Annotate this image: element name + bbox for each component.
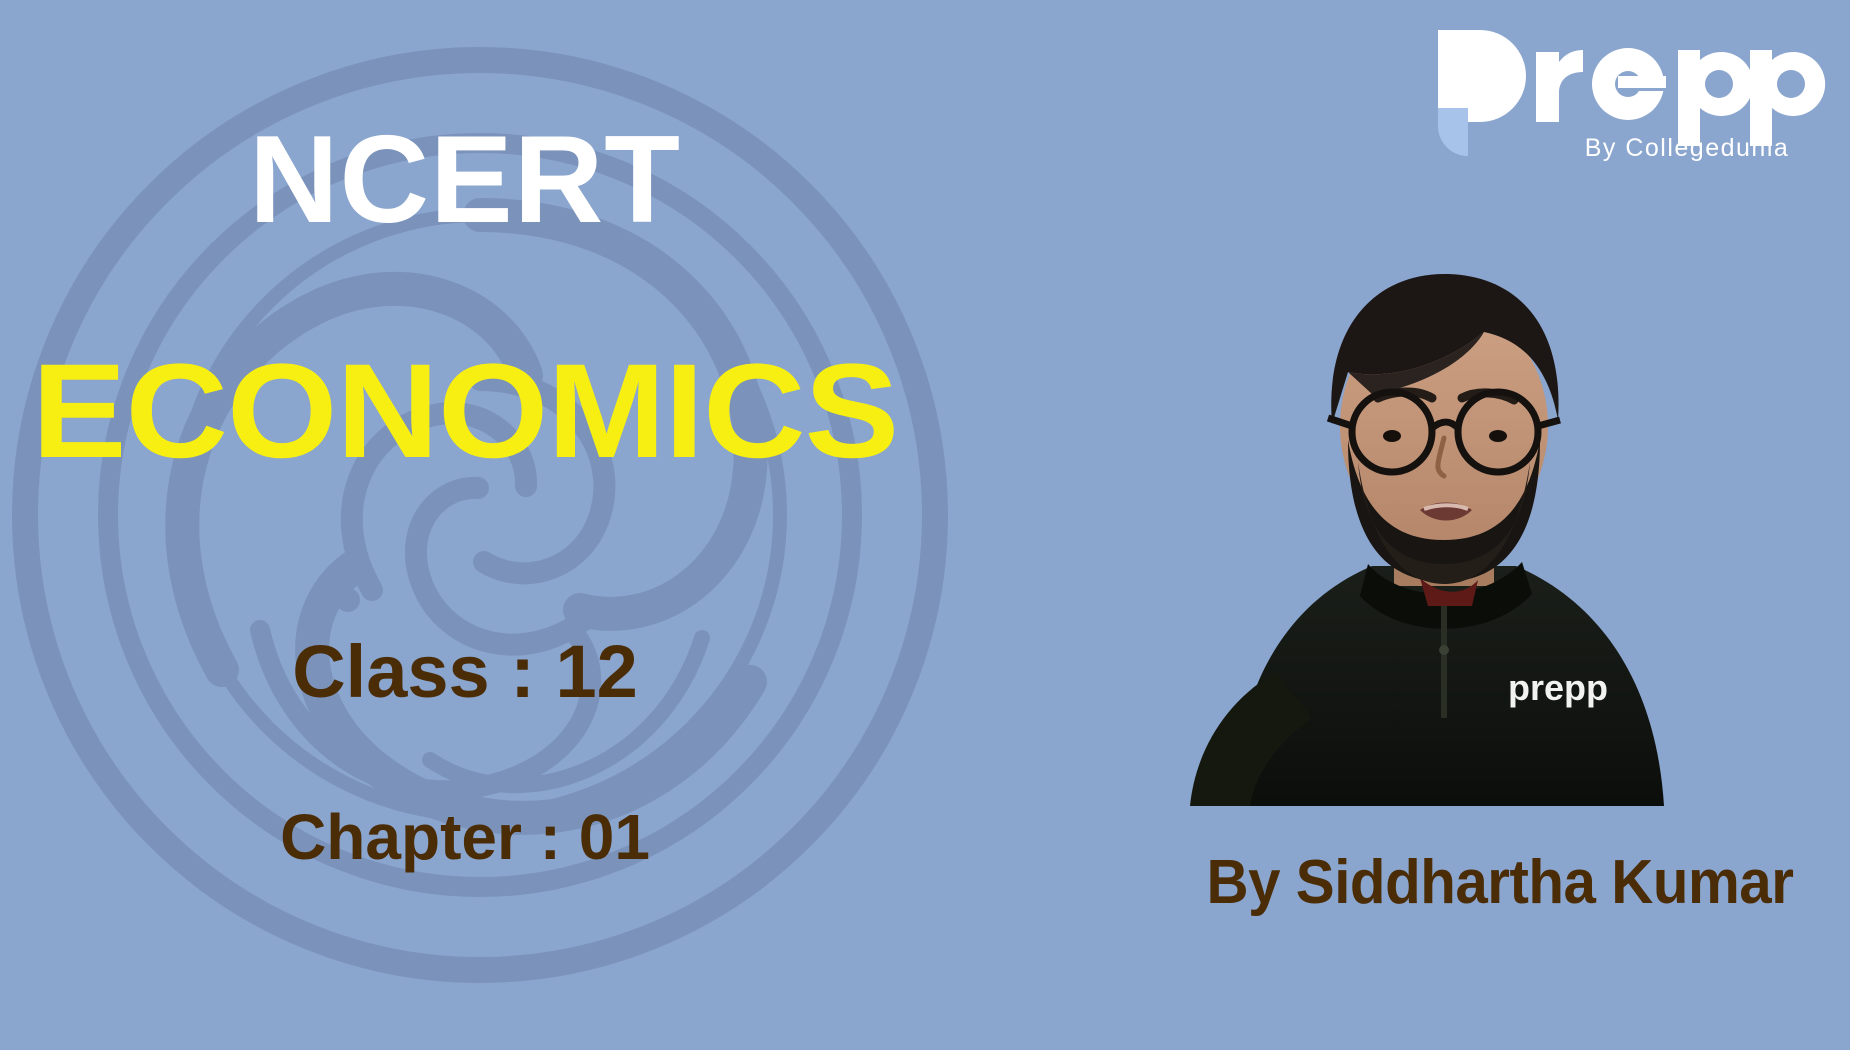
presenter-video-cutout: prepp [1172,248,1716,806]
presenter-figure: prepp [1190,274,1664,806]
prepp-logo-mark [1438,30,1526,156]
prepp-logo-wordmark [1536,48,1825,146]
prepp-logo-tagline: By Collegedunia [1585,134,1790,162]
slide-title: NCERT [0,118,930,242]
lecture-title-slide: By Collegedunia NCERT ECONOMICS Class : … [0,0,1850,1050]
presenter-name-label: By Siddhartha Kumar [1171,852,1829,914]
presenter-shirt-logo: prepp [1508,667,1608,708]
slide-chapter-line: Chapter : 01 [0,805,930,869]
prepp-logo: By Collegedunia [1432,16,1832,166]
slide-class-line: Class : 12 [0,635,930,709]
slide-subject: ECONOMICS [0,345,958,479]
